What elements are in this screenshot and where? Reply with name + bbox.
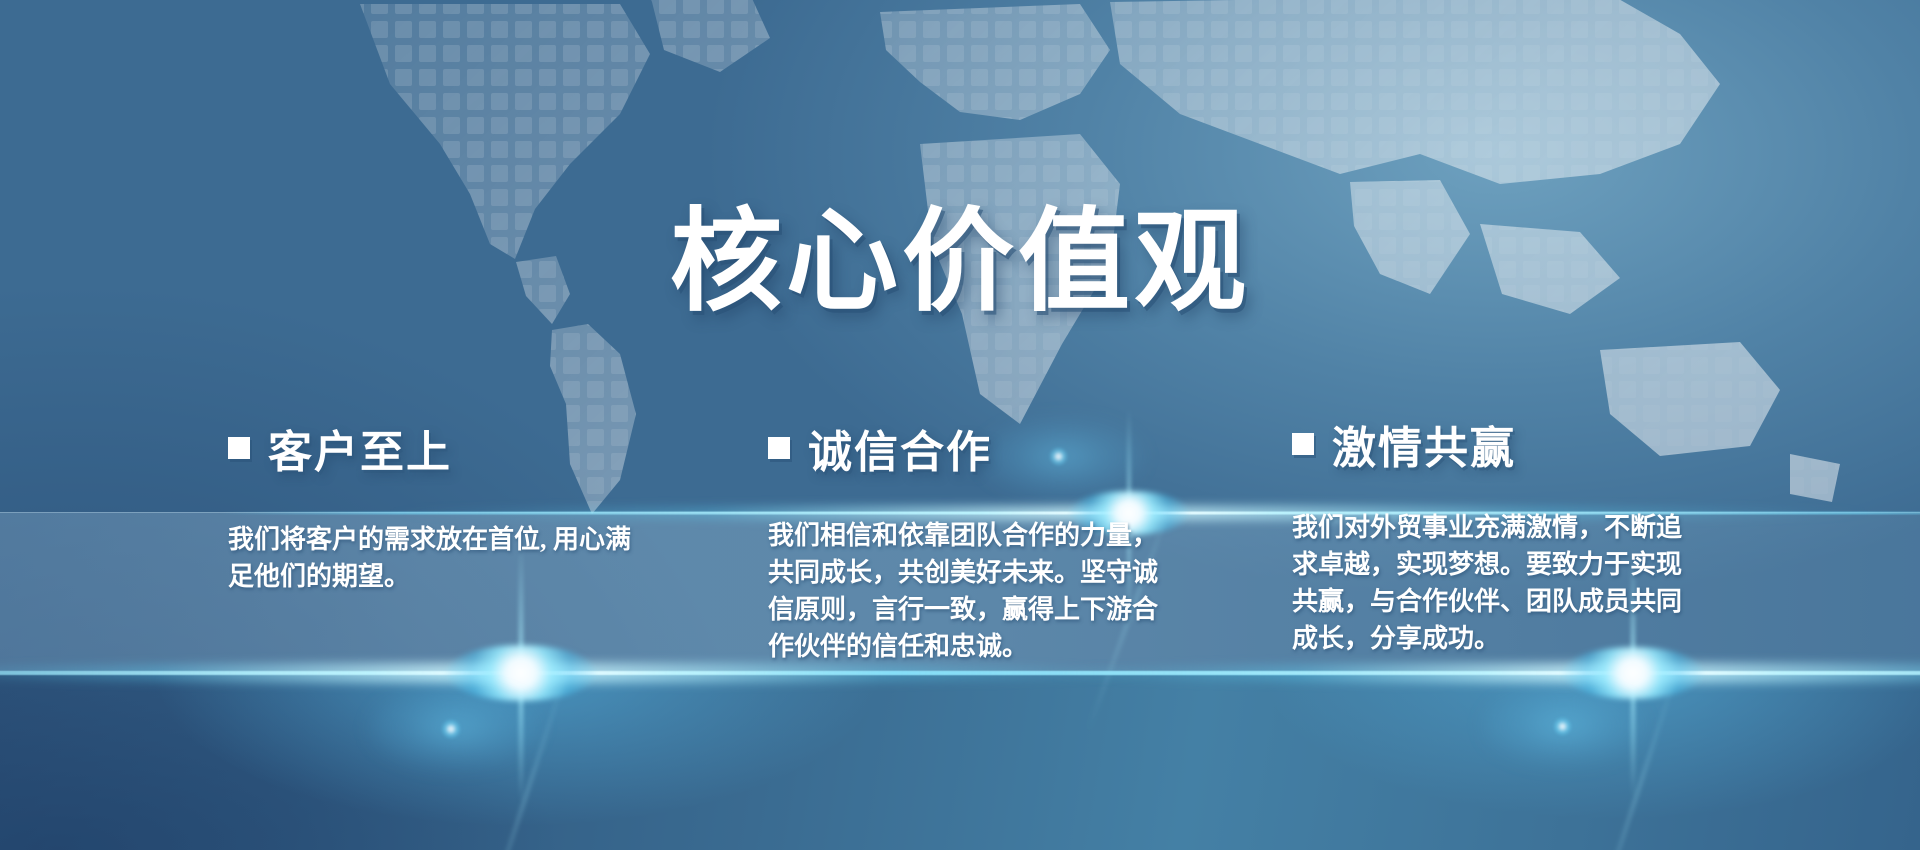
- value-title: 诚信合作: [808, 416, 992, 480]
- value-description: 我们将客户的需求放在首位, 用心满足他们的期望。: [228, 522, 648, 596]
- value-heading: 诚信合作: [768, 416, 1188, 480]
- value-heading: 客户至上: [228, 416, 658, 480]
- value-column-passion-winwin: 激情共赢 我们对外贸事业充满激情，不断追求卓越，实现梦想。要致力于实现共赢，与合…: [1292, 412, 1712, 658]
- core-values-banner: 核心价值观 客户至上 我们将客户的需求放在首位, 用心满足他们的期望。 诚信合作…: [0, 0, 1920, 850]
- value-description: 我们相信和依靠团队合作的力量，共同成长，共创美好未来。坚守诚信原则，言行一致，赢…: [768, 518, 1168, 666]
- square-bullet-icon: [228, 437, 250, 459]
- value-columns: 客户至上 我们将客户的需求放在首位, 用心满足他们的期望。 诚信合作 我们相信和…: [0, 0, 1920, 850]
- value-column-integrity-cooperation: 诚信合作 我们相信和依靠团队合作的力量，共同成长，共创美好未来。坚守诚信原则，言…: [768, 416, 1188, 666]
- value-title: 激情共赢: [1332, 412, 1516, 476]
- value-heading: 激情共赢: [1292, 412, 1712, 476]
- value-title: 客户至上: [268, 416, 452, 480]
- square-bullet-icon: [768, 437, 790, 459]
- value-column-customer-first: 客户至上 我们将客户的需求放在首位, 用心满足他们的期望。: [228, 416, 658, 596]
- value-description: 我们对外贸事业充满激情，不断追求卓越，实现梦想。要致力于实现共赢，与合作伙伴、团…: [1292, 510, 1692, 658]
- square-bullet-icon: [1292, 433, 1314, 455]
